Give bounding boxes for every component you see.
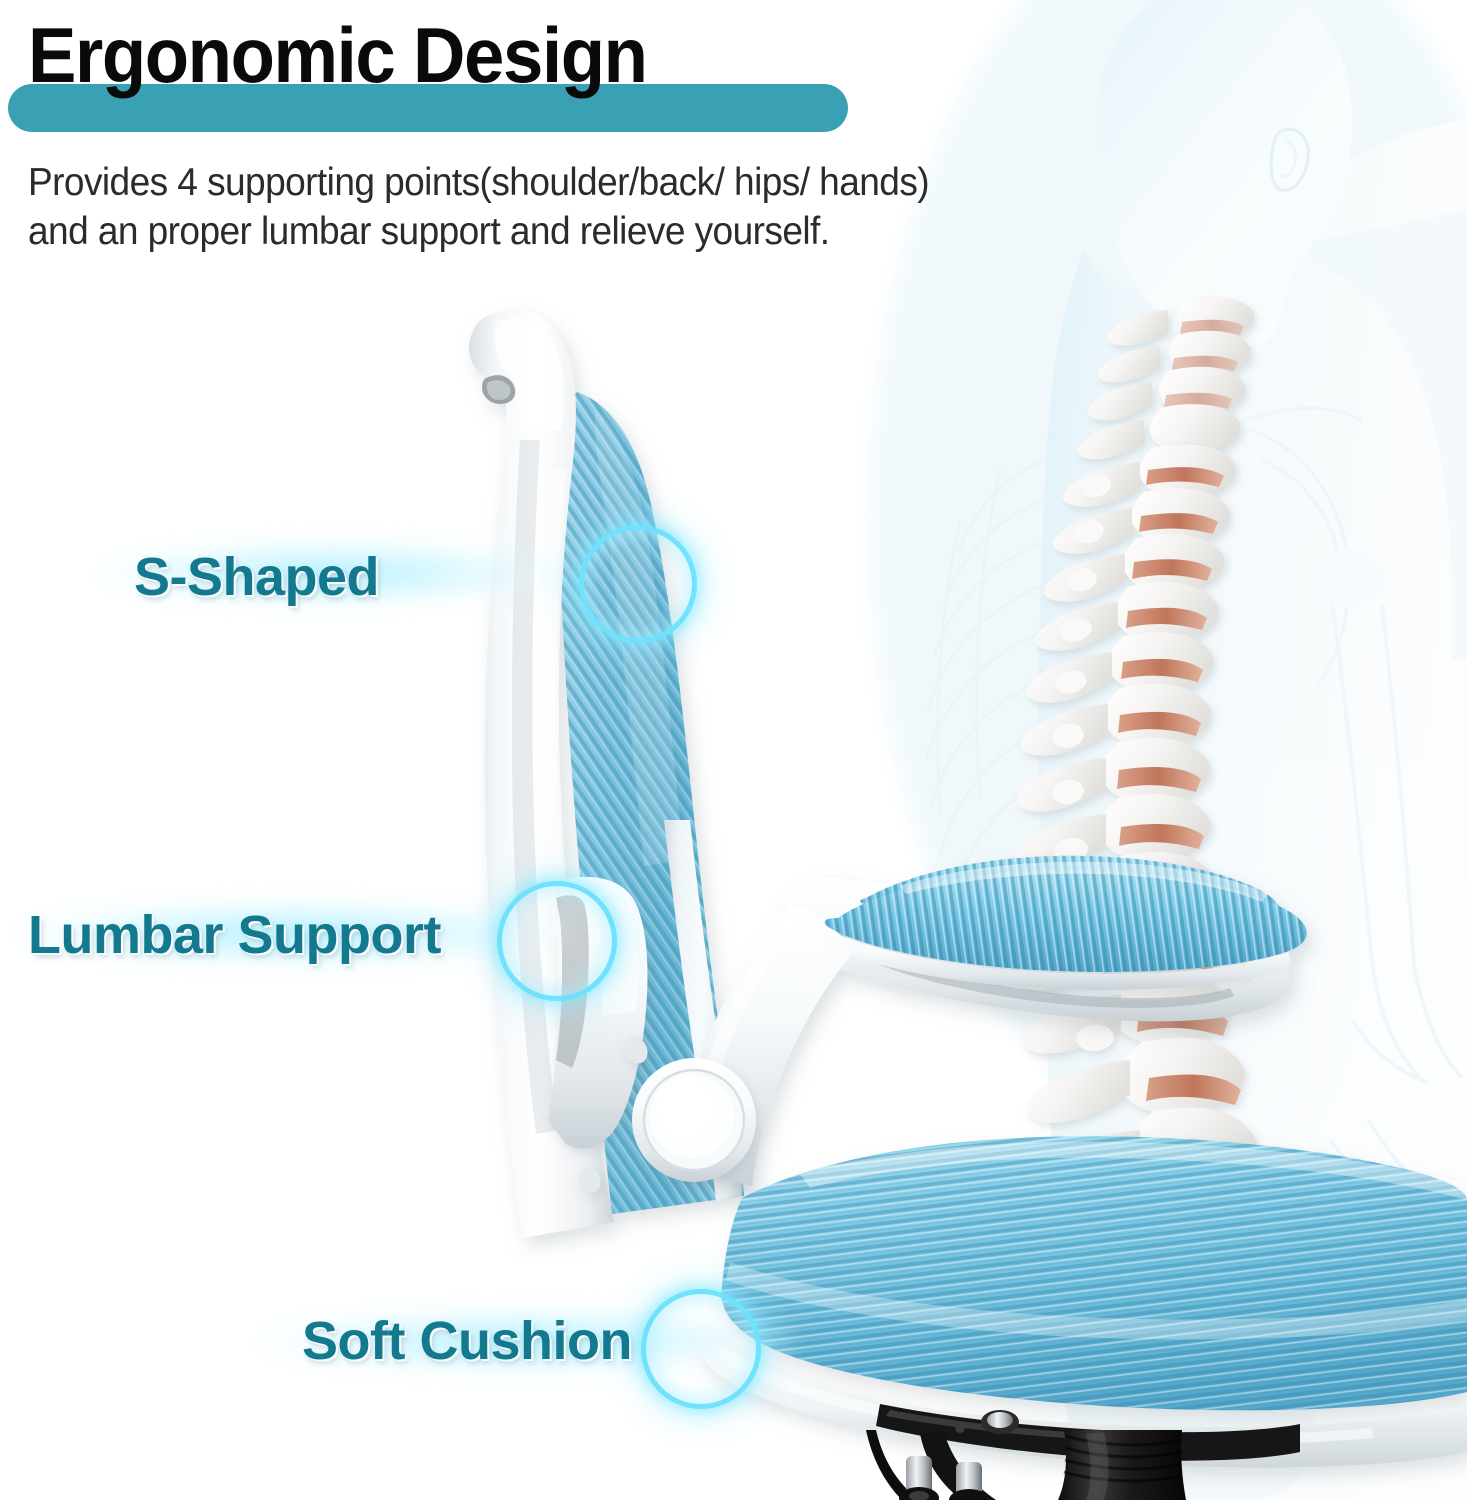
backrest-frame	[469, 310, 614, 1238]
rib-cage	[926, 455, 1066, 936]
backrest	[469, 310, 744, 1238]
armrest	[676, 856, 1307, 1186]
cylinder-bellows	[1064, 1436, 1181, 1481]
callout-label: S-Shaped	[134, 546, 379, 608]
armrest-frame	[676, 877, 1290, 1186]
callout-label: Lumbar Support	[28, 904, 441, 966]
gas-cylinder	[1058, 1430, 1186, 1500]
armrest-pad	[818, 856, 1307, 990]
header-block: Ergonomic Design Provides 4 supporting p…	[0, 0, 1260, 130]
torso-silhouette	[1038, 120, 1467, 1500]
feature-callout-soft-cushion: Soft Cushion	[246, 1266, 946, 1416]
page-title: Ergonomic Design	[28, 16, 647, 94]
page-subtitle: Provides 4 supporting points(shoulder/ba…	[28, 158, 929, 256]
cervical-vertebrae	[1078, 297, 1254, 459]
callout-label: Soft Cushion	[302, 1310, 632, 1372]
product-feature-image: Ergonomic Design Provides 4 supporting p…	[0, 0, 1467, 1500]
pelvis	[1126, 1267, 1315, 1500]
subtitle-line-2: and an proper lumbar support and relieve…	[28, 207, 929, 256]
scapula	[1248, 408, 1362, 684]
chair-base	[866, 1404, 1300, 1500]
glow-ring-marker-icon	[502, 886, 612, 996]
arm-bones	[1330, 600, 1462, 1240]
glow-ring-marker-icon	[584, 530, 692, 638]
pivot-hub	[576, 1033, 756, 1196]
subtitle-line-1: Provides 4 supporting points(shoulder/ba…	[28, 158, 929, 207]
feature-callout-lumbar-support: Lumbar Support	[2, 858, 682, 1008]
spinal-column	[1015, 444, 1270, 1268]
glow-ring-marker-icon	[646, 1294, 756, 1404]
feature-callout-s-shaped: S-Shaped	[96, 498, 666, 648]
